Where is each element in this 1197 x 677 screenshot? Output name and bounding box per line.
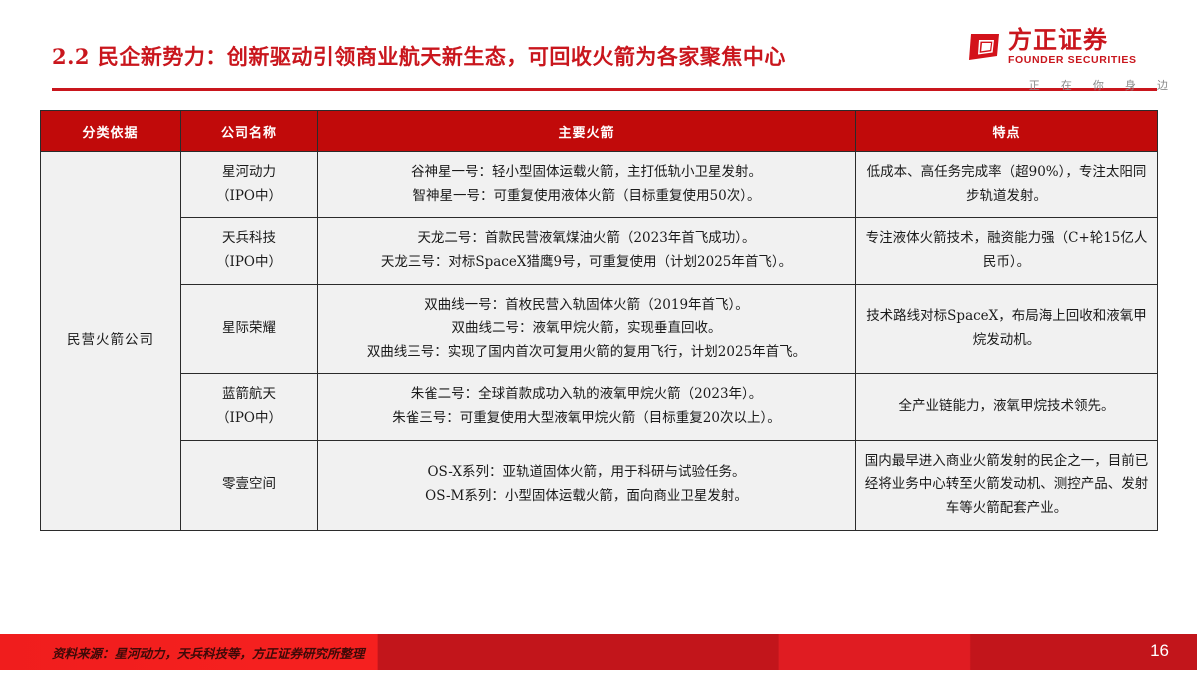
cell-company: 星河动力 （IPO中） <box>181 152 318 218</box>
table-header-row: 分类依据 公司名称 主要火箭 特点 <box>41 111 1158 152</box>
table-row: 星际荣耀 双曲线一号：首枚民营入轨固体火箭（2019年首飞）。 双曲线二号：液氧… <box>41 284 1158 374</box>
cell-rockets: 谷神星一号：轻小型固体运载火箭，主打低轨小卫星发射。 智神星一号：可重复使用液体… <box>318 152 856 218</box>
logo-wordmark: 方正证券 FOUNDER SECURITIES <box>1008 28 1137 66</box>
logo-tagline: 正 在 你 身 边 <box>1029 77 1177 93</box>
company-logo: 方正证券 FOUNDER SECURITIES 正 在 你 身 边 <box>967 28 1177 90</box>
cell-company: 零壹空间 <box>181 440 318 530</box>
cell-company: 蓝箭航天 （IPO中） <box>181 374 318 440</box>
footer-bar: 资料来源：星河动力，天兵科技等，方正证券研究所整理 16 <box>0 634 1197 670</box>
column-header-rockets: 主要火箭 <box>318 111 856 152</box>
source-note: 资料来源：星河动力，天兵科技等，方正证券研究所整理 <box>52 643 365 662</box>
cell-features: 低成本、高任务完成率（超90%），专注太阳同步轨道发射。 <box>856 152 1158 218</box>
rocket-companies-table-wrap: 分类依据 公司名称 主要火箭 特点 民营火箭公司 星河动力 （IPO中） 谷神星… <box>40 110 1157 531</box>
cell-rockets: 天龙二号：首款民营液氧煤油火箭（2023年首飞成功）。 天龙三号：对标Space… <box>318 218 856 284</box>
table-row: 蓝箭航天 （IPO中） 朱雀二号：全球首款成功入轨的液氧甲烷火箭（2023年）。… <box>41 374 1158 440</box>
column-header-company: 公司名称 <box>181 111 318 152</box>
logo-name-en: FOUNDER SECURITIES <box>1008 55 1137 66</box>
table-body: 民营火箭公司 星河动力 （IPO中） 谷神星一号：轻小型固体运载火箭，主打低轨小… <box>41 152 1158 531</box>
cell-rockets: OS-X系列：亚轨道固体火箭，用于科研与试验任务。 OS-M系列：小型固体运载火… <box>318 440 856 530</box>
column-header-category: 分类依据 <box>41 111 181 152</box>
table-head: 分类依据 公司名称 主要火箭 特点 <box>41 111 1158 152</box>
cell-features: 技术路线对标SpaceX，布局海上回收和液氧甲烷发动机。 <box>856 284 1158 374</box>
cell-company: 天兵科技 （IPO中） <box>181 218 318 284</box>
logo-name-cn: 方正证券 <box>1008 28 1137 52</box>
table-row: 民营火箭公司 星河动力 （IPO中） 谷神星一号：轻小型固体运载火箭，主打低轨小… <box>41 152 1158 218</box>
rocket-companies-table: 分类依据 公司名称 主要火箭 特点 民营火箭公司 星河动力 （IPO中） 谷神星… <box>40 110 1158 531</box>
cell-rockets: 朱雀二号：全球首款成功入轨的液氧甲烷火箭（2023年）。 朱雀三号：可重复使用大… <box>318 374 856 440</box>
logo-row: 方正证券 FOUNDER SECURITIES <box>967 28 1137 66</box>
founder-securities-mark-icon <box>967 32 1001 62</box>
cell-rockets: 双曲线一号：首枚民营入轨固体火箭（2019年首飞）。 双曲线二号：液氧甲烷火箭，… <box>318 284 856 374</box>
table-row: 天兵科技 （IPO中） 天龙二号：首款民营液氧煤油火箭（2023年首飞成功）。 … <box>41 218 1158 284</box>
column-header-features: 特点 <box>856 111 1158 152</box>
cell-features: 专注液体火箭技术，融资能力强（C+轮15亿人民币）。 <box>856 218 1158 284</box>
cell-features: 国内最早进入商业火箭发射的民企之一，目前已经将业务中心转至火箭发动机、测控产品、… <box>856 440 1158 530</box>
cell-features: 全产业链能力，液氧甲烷技术领先。 <box>856 374 1158 440</box>
page-number: 16 <box>1150 641 1169 661</box>
table-row: 零壹空间 OS-X系列：亚轨道固体火箭，用于科研与试验任务。 OS-M系列：小型… <box>41 440 1158 530</box>
cell-category: 民营火箭公司 <box>41 152 181 531</box>
page-title: 2.2 民企新势力：创新驱动引领商业航天新生态，可回收火箭为各家聚焦中心 <box>52 41 786 71</box>
cell-company: 星际荣耀 <box>181 284 318 374</box>
